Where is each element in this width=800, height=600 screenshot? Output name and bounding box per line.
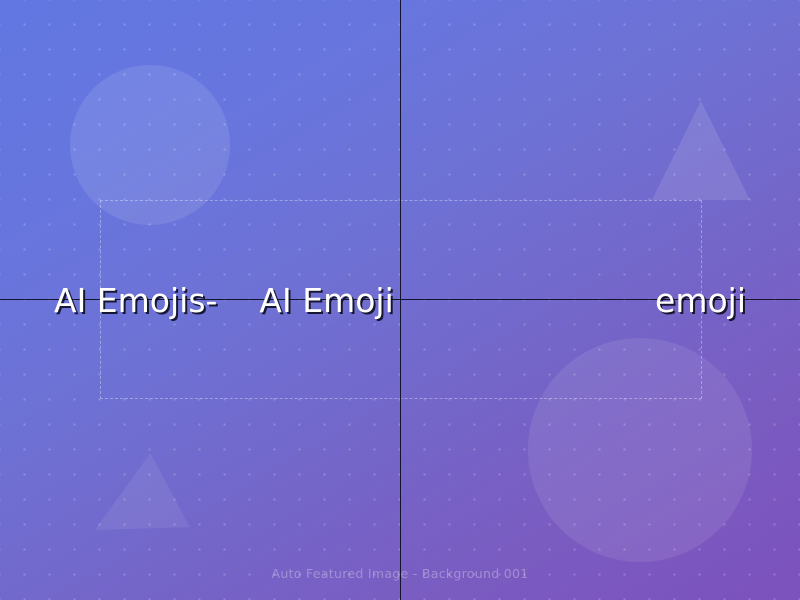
headline-left-part-a: AI Emojis- xyxy=(54,284,217,317)
headline-left-group: AI Emojis- AI Emoji xyxy=(54,284,394,317)
headline-left-part-b: AI Emoji xyxy=(259,284,393,317)
headline-right-part: emoji xyxy=(655,284,746,317)
background-caption: Auto Featured Image - Background 001 xyxy=(0,566,800,581)
headline-row: AI Emojis- AI Emoji emoji xyxy=(0,0,800,600)
auto-featured-image-canvas: AI Emojis- AI Emoji emoji Auto Featured … xyxy=(0,0,800,600)
